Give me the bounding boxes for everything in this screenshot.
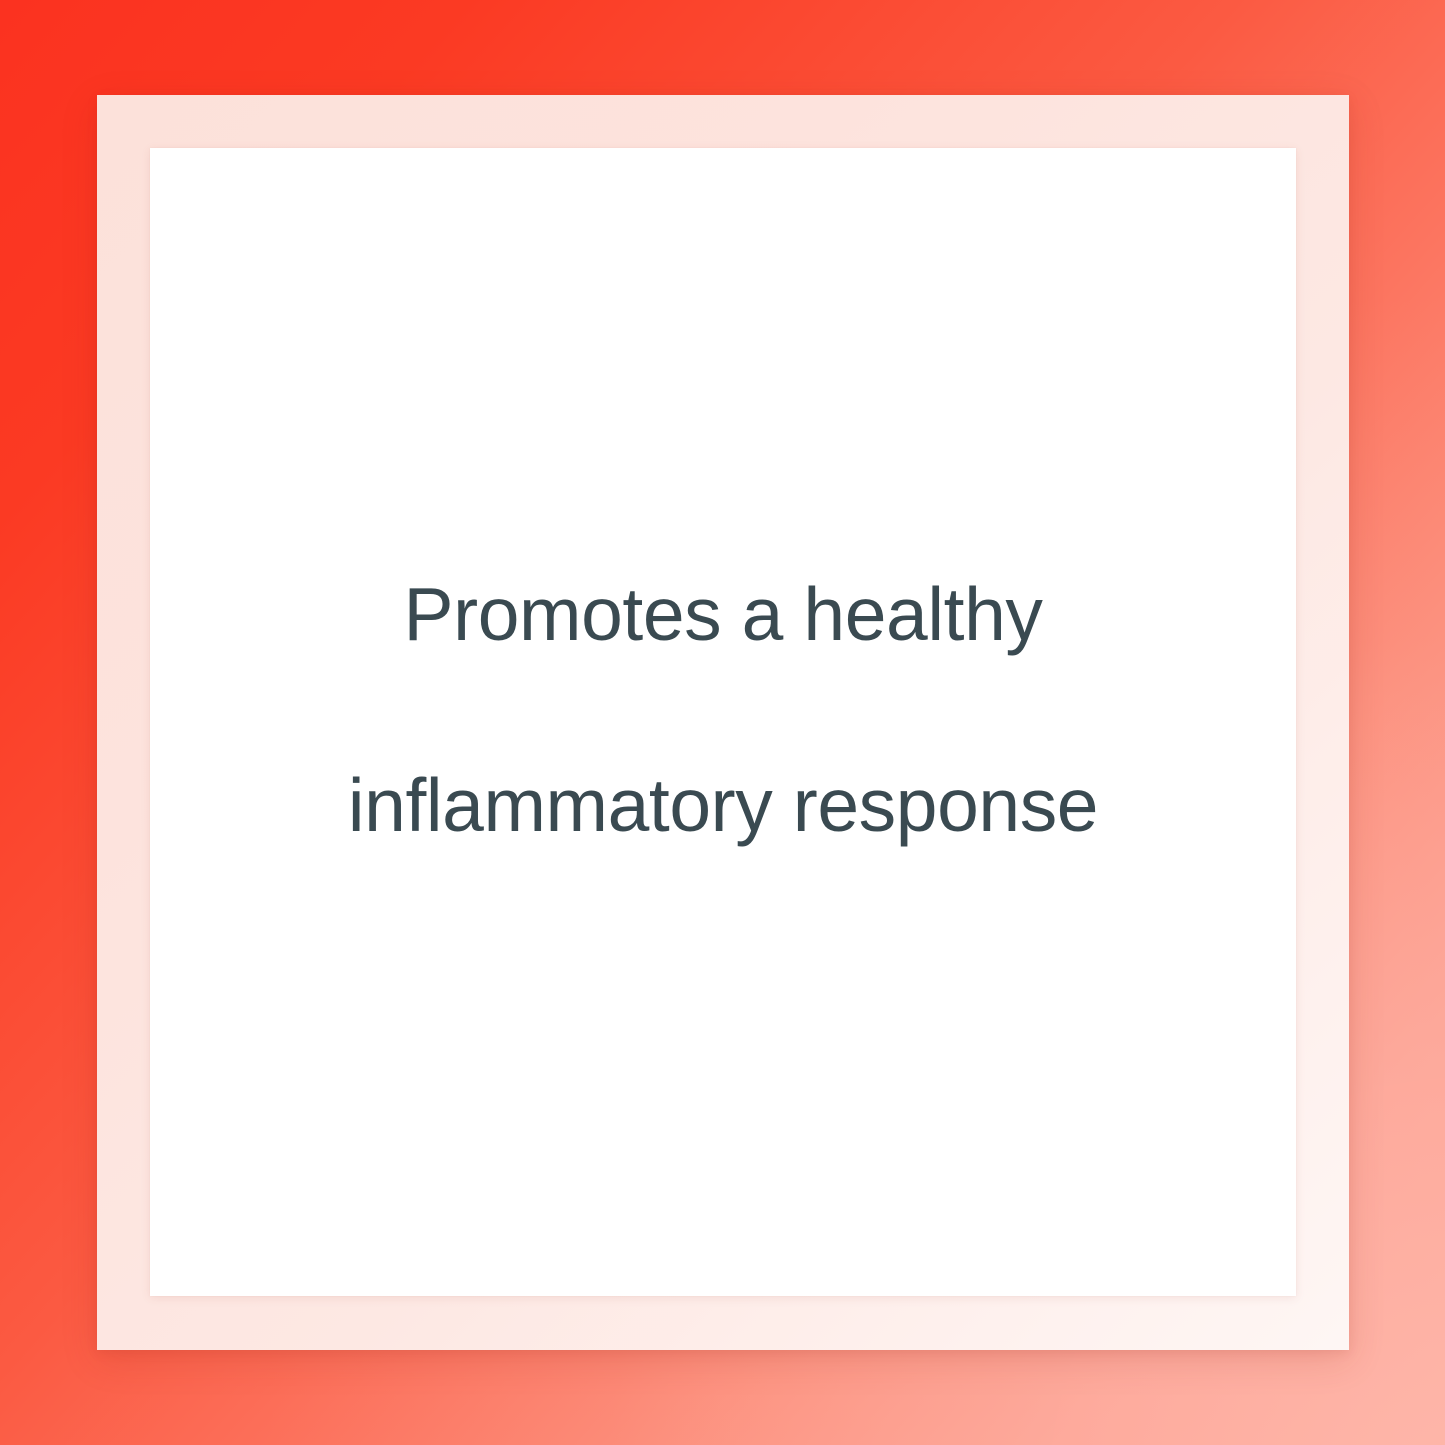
headline-text: Promotes a healthy inflammatory response: [150, 472, 1296, 948]
pink-mat-frame: Promotes a healthy inflammatory response: [97, 95, 1349, 1350]
headline-line-1: Promotes a healthy: [190, 567, 1256, 662]
white-inner-card: Promotes a healthy inflammatory response: [150, 148, 1296, 1296]
promo-canvas: Promotes a healthy inflammatory response: [0, 0, 1445, 1445]
headline-line-2: inflammatory response: [190, 758, 1256, 853]
